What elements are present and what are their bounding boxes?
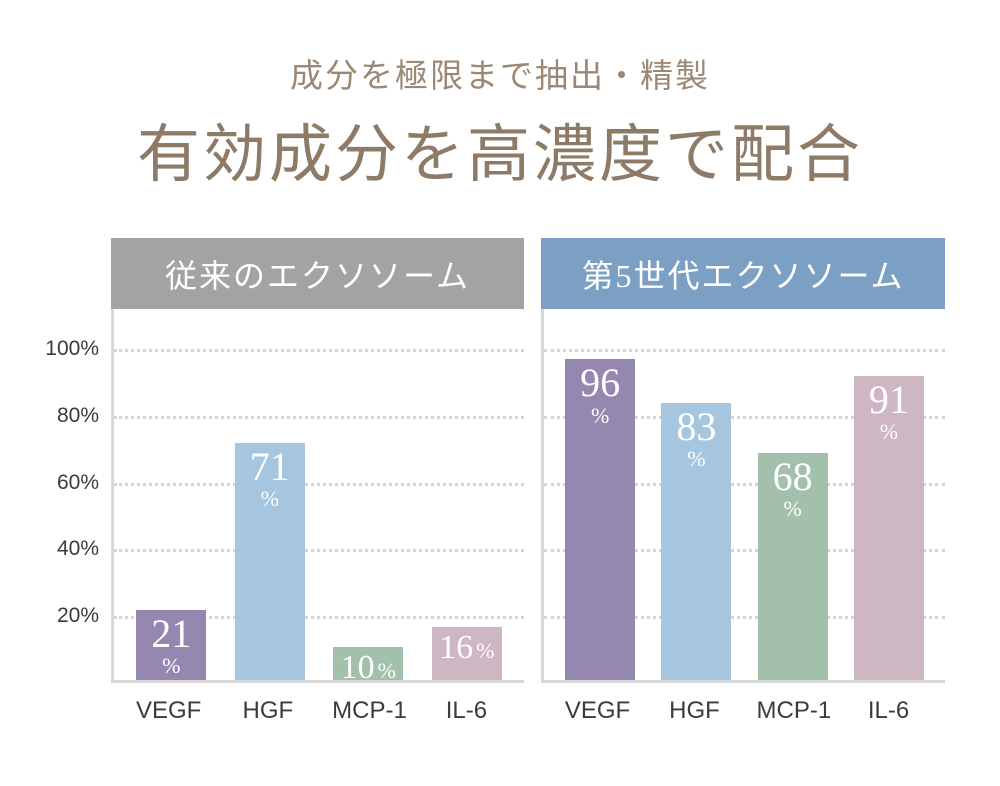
bar-mcp-1[interactable]: 10% bbox=[333, 647, 403, 680]
bar-slot: 83% bbox=[661, 403, 731, 680]
x-axis-conventional: VEGFHGFMCP-1IL-6 bbox=[111, 683, 524, 738]
bar-value-label: 83% bbox=[676, 407, 716, 470]
panel-header-conventional: 従来のエクソソーム bbox=[111, 238, 524, 309]
bar-hgf[interactable]: 71% bbox=[235, 443, 305, 680]
bar-value-label: 68% bbox=[773, 457, 813, 520]
x-axis-tick-vegf: VEGF bbox=[134, 697, 204, 725]
bar-value-number: 71 bbox=[250, 447, 290, 486]
plot-area-conventional: 21%71%10%16% bbox=[111, 309, 524, 683]
y-axis: 100%80%60%40%20% bbox=[0, 238, 111, 738]
bar-il-6[interactable]: 16% bbox=[432, 627, 502, 680]
bar-il-6[interactable]: 91% bbox=[854, 376, 924, 680]
heading-block: 成分を極限まで抽出・精製 有効成分を高濃度で配合 bbox=[0, 0, 1000, 194]
panel-header-gen5: 第5世代エクソソーム bbox=[541, 238, 945, 309]
y-axis-tick: 20% bbox=[57, 604, 99, 628]
bar-hgf[interactable]: 83% bbox=[661, 403, 731, 680]
bar-value-percent-sign: % bbox=[880, 420, 898, 443]
y-axis-tick: 40% bbox=[57, 537, 99, 561]
y-axis-tick: 80% bbox=[57, 404, 99, 428]
chart-panel-gen5: 第5世代エクソソーム 96%83%68%91% VEGFHGFMCP-1IL-6 bbox=[541, 238, 945, 738]
bar-value-label: 96% bbox=[580, 363, 620, 426]
infographic-page: 成分を極限まで抽出・精製 有効成分を高濃度で配合 100%80%60%40%20… bbox=[0, 0, 1000, 786]
bar-value-percent-sign: % bbox=[687, 447, 705, 470]
bar-vegf[interactable]: 96% bbox=[565, 359, 635, 680]
bar-value-percent-sign: % bbox=[783, 497, 801, 520]
bar-mcp-1[interactable]: 68% bbox=[758, 453, 828, 680]
bar-value-label: 16% bbox=[439, 631, 494, 664]
subtitle: 成分を極限まで抽出・精製 bbox=[0, 58, 1000, 98]
bar-value-number: 96 bbox=[580, 363, 620, 402]
bar-slot: 91% bbox=[854, 376, 924, 680]
bar-value-number: 83 bbox=[676, 407, 716, 446]
bar-value-number: 21 bbox=[151, 614, 191, 653]
x-axis-tick-mcp-1: MCP-1 bbox=[332, 697, 402, 725]
bar-value-label: 71% bbox=[250, 447, 290, 510]
x-axis-gen5: VEGFHGFMCP-1IL-6 bbox=[541, 683, 945, 738]
bar-value-number: 10 bbox=[341, 651, 375, 684]
x-axis-tick-hgf: HGF bbox=[233, 697, 303, 725]
bar-value-label: 91% bbox=[869, 380, 909, 443]
bar-slot: 68% bbox=[758, 453, 828, 680]
x-axis-tick-il-6: IL-6 bbox=[854, 697, 924, 725]
bar-value-label: 10% bbox=[341, 651, 396, 684]
bar-slot: 71% bbox=[235, 443, 305, 680]
bar-value-percent-sign: % bbox=[162, 654, 180, 677]
x-axis-tick-mcp-1: MCP-1 bbox=[757, 697, 827, 725]
x-axis-tick-vegf: VEGF bbox=[563, 697, 633, 725]
chart-panel-conventional: 従来のエクソソーム 21%71%10%16% VEGFHGFMCP-1IL-6 bbox=[111, 238, 524, 738]
bar-slot: 10% bbox=[333, 647, 403, 680]
bar-slot: 21% bbox=[136, 610, 206, 680]
bar-value-percent-sign: % bbox=[378, 659, 396, 682]
y-axis-tick: 60% bbox=[57, 471, 99, 495]
plot-area-gen5: 96%83%68%91% bbox=[541, 309, 945, 683]
x-axis-tick-il-6: IL-6 bbox=[431, 697, 501, 725]
bar-value-number: 16 bbox=[439, 631, 473, 664]
page-title: 有効成分を高濃度で配合 bbox=[0, 116, 1000, 195]
bar-group: 21%71%10%16% bbox=[114, 309, 524, 680]
bar-vegf[interactable]: 21% bbox=[136, 610, 206, 680]
x-axis-tick-hgf: HGF bbox=[660, 697, 730, 725]
bar-slot: 96% bbox=[565, 359, 635, 680]
bar-value-percent-sign: % bbox=[261, 487, 279, 510]
bar-group: 96%83%68%91% bbox=[544, 309, 945, 680]
bar-slot: 16% bbox=[432, 627, 502, 680]
bar-value-number: 68 bbox=[773, 457, 813, 496]
charts-container: 100%80%60%40%20% 従来のエクソソーム 21%71%10%16% … bbox=[0, 238, 1000, 738]
bar-value-percent-sign: % bbox=[591, 404, 609, 427]
bar-value-label: 21% bbox=[151, 614, 191, 677]
bar-value-percent-sign: % bbox=[476, 639, 494, 662]
y-axis-tick: 100% bbox=[45, 337, 99, 361]
bar-value-number: 91 bbox=[869, 380, 909, 419]
